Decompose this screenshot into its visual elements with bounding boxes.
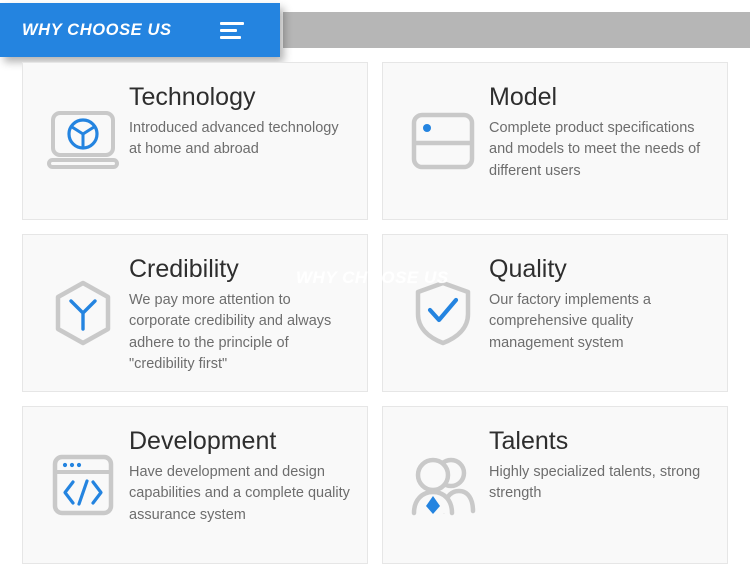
card-description: Complete product specifications and mode… <box>489 118 713 182</box>
card-text-block: Model Complete product specifications an… <box>489 81 713 182</box>
card-title: Credibility <box>129 255 353 284</box>
card-text-block: Technology Introduced advanced technolog… <box>129 81 353 161</box>
card-text-block: Development Have development and design … <box>129 425 353 526</box>
card-text-block: Credibility We pay more attention to cor… <box>129 253 353 376</box>
feature-card-credibility[interactable]: Credibility We pay more attention to cor… <box>22 234 368 392</box>
hexagon-credibility-icon <box>37 267 129 359</box>
laptop-technology-icon <box>37 95 129 187</box>
card-text-block: Quality Our factory implements a compreh… <box>489 253 713 354</box>
card-title: Development <box>129 427 353 456</box>
code-window-development-icon <box>37 439 129 531</box>
card-title: Technology <box>129 83 353 112</box>
feature-card-quality[interactable]: Quality Our factory implements a compreh… <box>382 234 728 392</box>
feature-card-technology[interactable]: Technology Introduced advanced technolog… <box>22 62 368 220</box>
product-model-panel-icon <box>397 95 489 187</box>
hamburger-menu-icon[interactable] <box>220 22 244 39</box>
feature-card-talents[interactable]: Talents Highly specialized talents, stro… <box>382 406 728 564</box>
card-title: Model <box>489 83 713 112</box>
card-title: Quality <box>489 255 713 284</box>
features-grid: Technology Introduced advanced technolog… <box>22 62 728 564</box>
card-description: Our factory implements a comprehensive q… <box>489 290 713 354</box>
why-choose-us-tab[interactable]: WHY CHOOSE US <box>0 3 280 57</box>
card-text-block: Talents Highly specialized talents, stro… <box>489 425 713 505</box>
header-gray-bar <box>283 12 750 48</box>
card-description: Have development and design capabilities… <box>129 462 353 526</box>
card-description: We pay more attention to corporate credi… <box>129 290 353 376</box>
card-description: Highly specialized talents, strong stren… <box>489 462 713 505</box>
shield-check-quality-icon <box>397 267 489 359</box>
people-talents-icon <box>397 439 489 531</box>
card-title: Talents <box>489 427 713 456</box>
feature-card-development[interactable]: Development Have development and design … <box>22 406 368 564</box>
card-description: Introduced advanced technology at home a… <box>129 118 353 161</box>
header-title: WHY CHOOSE US <box>22 21 172 40</box>
page-header: WHY CHOOSE US <box>0 0 750 60</box>
feature-card-model[interactable]: Model Complete product specifications an… <box>382 62 728 220</box>
